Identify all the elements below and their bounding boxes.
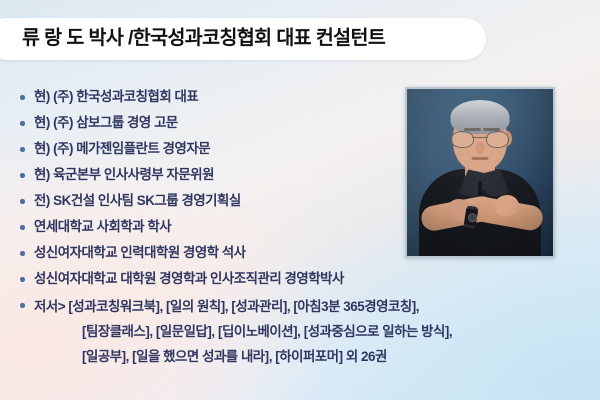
page-title: 류 랑 도 박사 /한국성과코칭협회 대표 컨설턴트 [0, 29, 385, 49]
publications-line-1: 저서> [성과코칭워크북], [일의 원칙], [성과관리], [아침3분 36… [34, 299, 419, 314]
publications-list-item: 저서> [성과코칭워크북], [일의 원칙], [성과관리], [아침3분 36… [16, 294, 584, 369]
profile-slide: 류 랑 도 박사 /한국성과코칭협회 대표 컨설턴트 현) (주) 한국성과코칭… [0, 0, 600, 400]
portrait-photo-content [407, 89, 553, 256]
publications-line-2: [팀장클래스], [일문일답], [딥이노베이션], [성과중심으로 일하는 방… [34, 319, 584, 344]
publications-line-3: [일공부], [일을 했으면 성과를 내라], [하이퍼포머] 외 26권 [34, 344, 584, 369]
portrait-photo [405, 87, 555, 258]
photo-vignette [407, 89, 553, 256]
title-bar: 류 랑 도 박사 /한국성과코칭협회 대표 컨설턴트 [0, 18, 486, 60]
list-item: 성신여자대학교 대학원 경영학과 인사조직관리 경영학박사 [16, 268, 584, 291]
